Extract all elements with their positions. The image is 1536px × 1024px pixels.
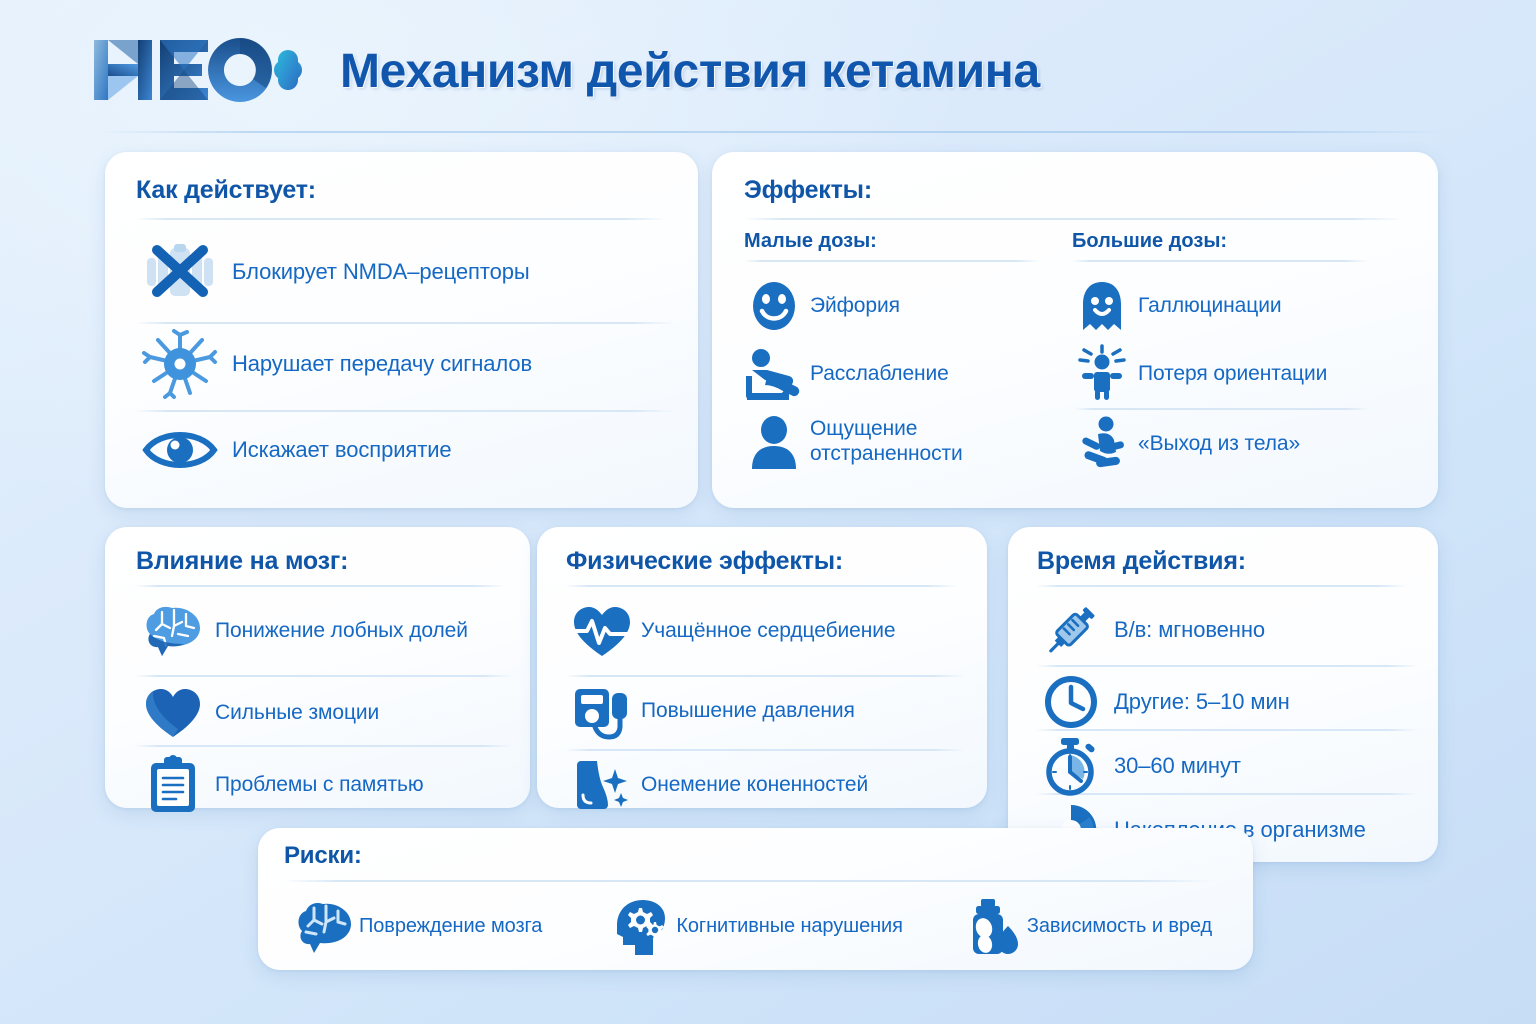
card-duration: Время действия: bbox=[1008, 527, 1438, 862]
brain-icon bbox=[135, 598, 211, 664]
card-title-physical: Физические эффекты: bbox=[566, 547, 843, 576]
list-item[interactable]: Нарушает передачу сигналов bbox=[138, 322, 678, 406]
header-divider bbox=[96, 131, 1444, 133]
list-item-label: 30–60 минут bbox=[1114, 753, 1241, 779]
list-item-label: Блокирует NMDA–рецепторы bbox=[232, 259, 530, 285]
page-title: Механизм действия кетамина bbox=[340, 44, 1040, 99]
list-item-label: Нарушает передачу сигналов bbox=[232, 351, 532, 377]
dizzy-person-icon bbox=[1072, 343, 1132, 405]
blood-pressure-monitor-icon bbox=[565, 678, 639, 744]
list-item-label: Учащённое сердцебиение bbox=[641, 619, 895, 644]
heart-icon bbox=[135, 680, 211, 746]
divider bbox=[135, 218, 667, 220]
list-item-label: Расслабление bbox=[810, 362, 949, 387]
clock-icon bbox=[1036, 670, 1106, 734]
divider bbox=[744, 260, 1040, 262]
floating-person-icon bbox=[1072, 413, 1132, 475]
list-item[interactable]: Галлюцинации bbox=[1072, 272, 1382, 340]
nmda-receptor-blocked-icon bbox=[138, 235, 222, 309]
eye-icon bbox=[138, 413, 222, 487]
list-item[interactable]: Зависимость и вред bbox=[961, 896, 1212, 958]
list-item[interactable]: Расслабление bbox=[744, 340, 1054, 408]
pill-bottle-icon bbox=[961, 896, 1023, 958]
smiley-face-icon bbox=[744, 275, 804, 337]
divider bbox=[283, 880, 1213, 882]
stopwatch-icon bbox=[1036, 734, 1106, 798]
divider bbox=[1036, 585, 1408, 587]
list-item[interactable]: Сильные змоции bbox=[135, 677, 525, 749]
card-title-brain: Влияние на мозг: bbox=[136, 547, 348, 576]
person-silhouette-icon bbox=[744, 411, 804, 473]
numb-foot-icon bbox=[565, 752, 639, 818]
card-risks: Риски: Повреждение мозга bbox=[258, 828, 1253, 970]
head-gears-icon bbox=[610, 896, 672, 958]
list-item-label: Понижение лобных долей bbox=[215, 619, 468, 644]
heart-pulse-icon bbox=[565, 598, 639, 664]
effects-column-low-dose: Малые дозы: Эйфория bbox=[744, 230, 1054, 476]
page-header: Механизм действия кетамина bbox=[0, 0, 1536, 140]
list-item[interactable]: Повреждение мозга bbox=[293, 896, 542, 958]
card-title-risks: Риски: bbox=[284, 842, 362, 870]
list-item[interactable]: Проблемы с памятью bbox=[135, 749, 525, 821]
list-item[interactable]: 30–60 минут bbox=[1036, 731, 1432, 801]
list-item-label: Сильные змоции bbox=[215, 701, 379, 726]
list-item-label: Эйфория bbox=[810, 294, 900, 319]
list-item[interactable]: Потеря ориентации bbox=[1072, 340, 1382, 408]
list-item-label: Повреждение мозга bbox=[359, 915, 542, 939]
brain-damage-icon bbox=[293, 896, 355, 958]
list-item[interactable]: Учащённое сердцебиение bbox=[565, 595, 981, 667]
list-item-label: Повышение давления bbox=[641, 699, 855, 724]
divider bbox=[743, 218, 1403, 220]
card-title-duration: Время действия: bbox=[1037, 547, 1246, 576]
card-how-it-works: Как действует: Блокирует NMDA–рецепторы bbox=[105, 152, 698, 508]
list-item-label: Потеря ориентации bbox=[1138, 362, 1327, 387]
list-item[interactable]: Онемение коненностей bbox=[565, 749, 981, 821]
subheading-high-dose: Большие дозы: bbox=[1072, 230, 1382, 253]
reclining-person-icon bbox=[744, 343, 804, 405]
card-physical-effects: Физические эффекты: Учащённое сердцебиен… bbox=[537, 527, 987, 808]
ghost-icon bbox=[1072, 275, 1132, 337]
list-item[interactable]: «Выход из тела» bbox=[1072, 410, 1382, 478]
list-item-label: Галлюцинации bbox=[1138, 294, 1281, 319]
risks-list: Повреждение мозга bbox=[283, 890, 1223, 964]
list-item[interactable]: Блокирует NMDA–рецепторы bbox=[138, 230, 678, 314]
card-brain-impact: Влияние на мозг: Понижение лобны bbox=[105, 527, 530, 808]
list-item-label: Онемение коненностей bbox=[641, 773, 868, 798]
divider bbox=[1072, 260, 1368, 262]
list-item-label: Зависимость и вред bbox=[1027, 915, 1212, 939]
list-item[interactable]: Повышение давления bbox=[565, 675, 981, 747]
syringe-icon bbox=[1036, 598, 1106, 662]
list-item[interactable]: Понижение лобных долей bbox=[135, 595, 525, 667]
list-item-label: Когнитивные нарушения bbox=[676, 915, 903, 939]
subheading-low-dose: Малые дозы: bbox=[744, 230, 1054, 253]
list-item[interactable]: Другие: 5–10 мин bbox=[1036, 667, 1432, 737]
effects-column-high-dose: Большие дозы: Галлюцинации bbox=[1072, 230, 1382, 478]
list-item-label: Искажает восприятие bbox=[232, 437, 452, 463]
neo-plus-logo bbox=[92, 36, 302, 104]
list-item[interactable]: Ощущение отстраненности bbox=[744, 408, 1054, 476]
list-item[interactable]: Искажает восприятие bbox=[138, 408, 678, 492]
list-item-label: Проблемы с памятью bbox=[215, 773, 424, 798]
neuron-icon bbox=[138, 327, 222, 401]
list-item-label: «Выход из тела» bbox=[1138, 432, 1300, 457]
list-item[interactable]: Когнитивные нарушения bbox=[610, 896, 903, 958]
list-item[interactable]: В/в: мгновенно bbox=[1036, 595, 1432, 665]
card-title-effects: Эффекты: bbox=[744, 176, 872, 205]
list-item[interactable]: Эйфория bbox=[744, 272, 1054, 340]
list-item-label: Ощущение отстраненности bbox=[810, 417, 963, 467]
divider bbox=[565, 585, 959, 587]
list-item-label: Другие: 5–10 мин bbox=[1114, 689, 1290, 715]
divider bbox=[135, 585, 505, 587]
list-item-label: В/в: мгновенно bbox=[1114, 617, 1265, 643]
clipboard-icon bbox=[135, 752, 211, 818]
card-effects: Эффекты: Малые дозы: Эйфория bbox=[712, 152, 1438, 508]
card-title-how: Как действует: bbox=[136, 176, 316, 205]
infographic-canvas: Механизм действия кетамина Как действует… bbox=[0, 0, 1536, 1024]
